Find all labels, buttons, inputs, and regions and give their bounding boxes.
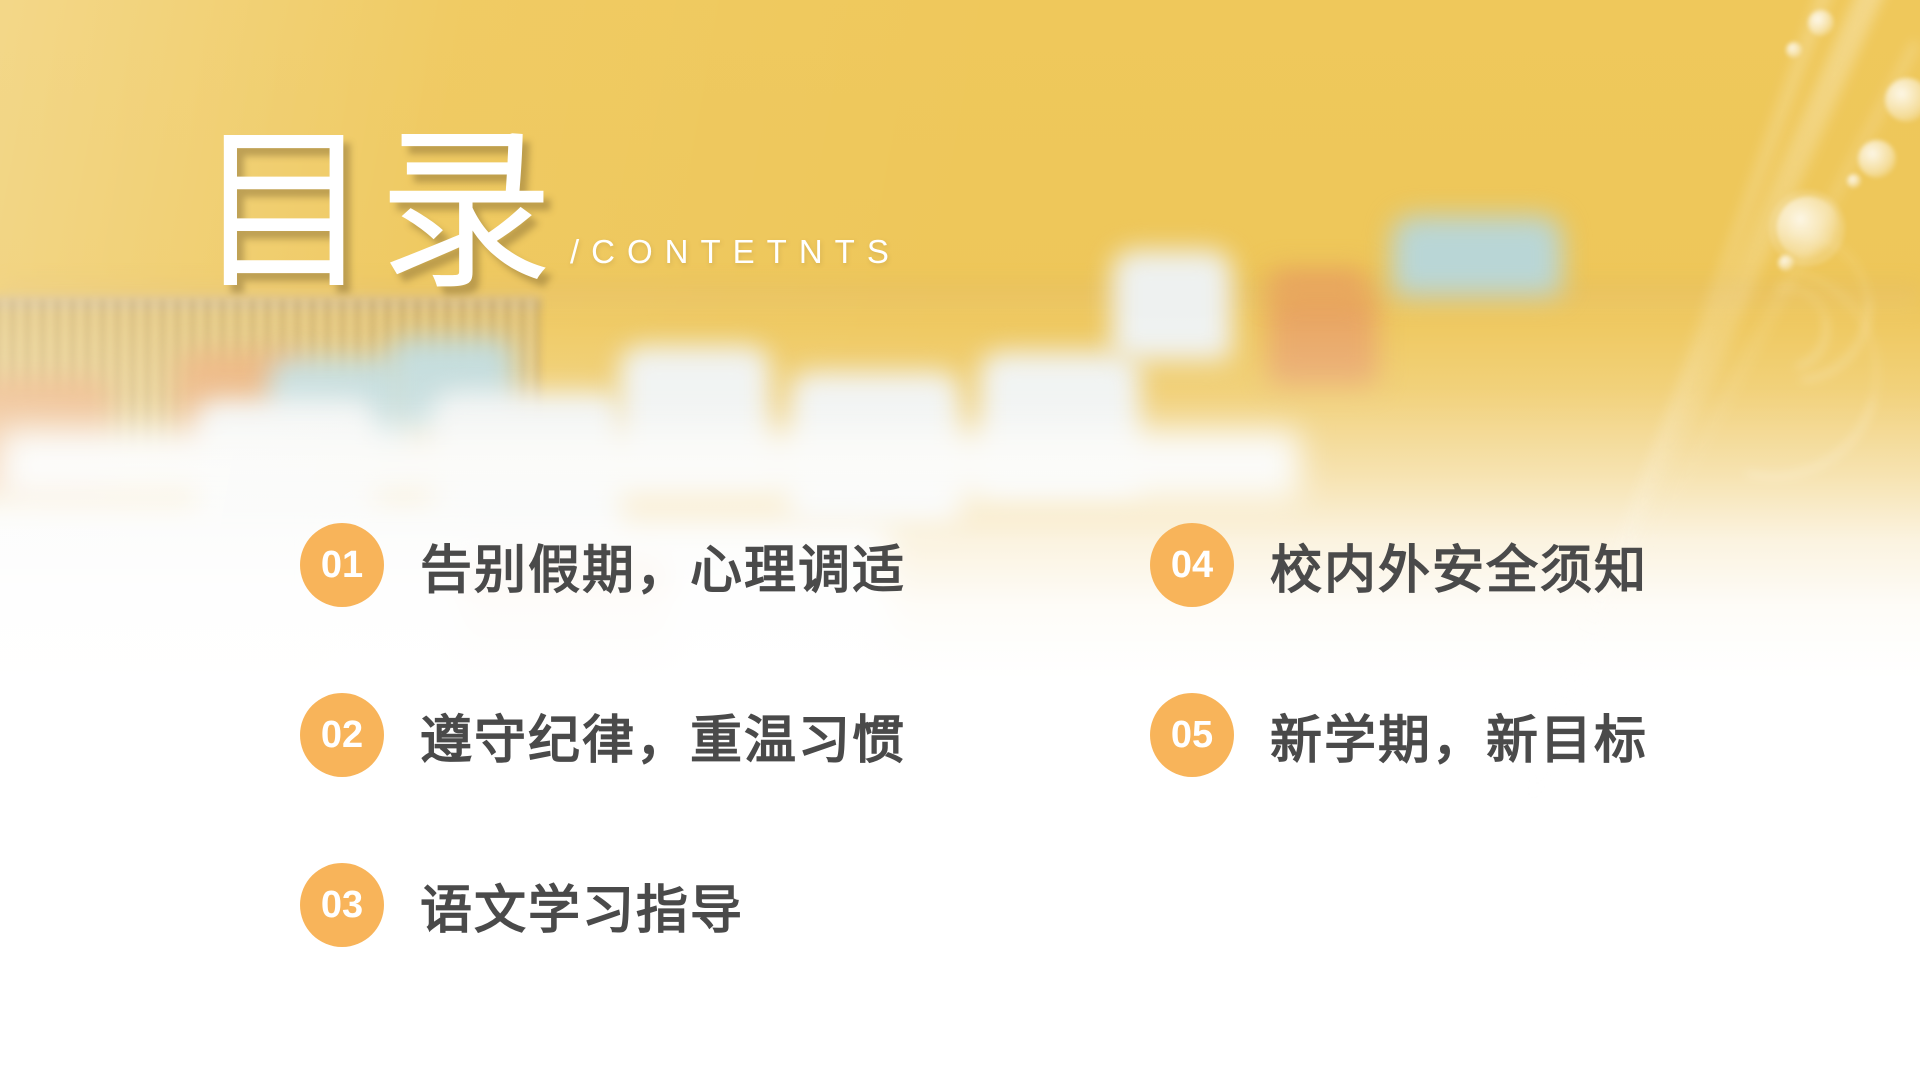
lens-flare-bokeh — [1808, 10, 1834, 36]
toc-item-02[interactable]: 02 遵守纪律，重温习惯 — [300, 650, 1000, 820]
lens-flare-bokeh — [1858, 140, 1896, 178]
toc-item-01[interactable]: 01 告别假期，心理调适 — [300, 480, 1000, 650]
page-subtitle: /CONTETNTS — [570, 233, 901, 297]
toc-item-label: 遵守纪律，重温习惯 — [420, 698, 906, 773]
toc-item-label: 告别假期，心理调适 — [420, 528, 906, 603]
toc-number-badge: 03 — [300, 863, 384, 947]
lens-flare-bokeh — [1786, 42, 1802, 58]
toc-item-label: 新学期，新目标 — [1270, 698, 1648, 773]
toc-item-05[interactable]: 05 新学期，新目标 — [1150, 650, 1850, 820]
table-of-contents: 01 告别假期，心理调适 04 校内外安全须知 02 遵守纪律，重温习惯 05 … — [300, 480, 1860, 990]
toc-item-label: 语文学习指导 — [420, 868, 744, 943]
toc-number-badge: 02 — [300, 693, 384, 777]
lens-flare-bokeh — [1847, 174, 1861, 188]
slide-title-group: 目录 /CONTETNTS — [196, 128, 901, 297]
toc-item-04[interactable]: 04 校内外安全须知 — [1150, 480, 1850, 650]
presentation-slide: 目录 /CONTETNTS 01 告别假期，心理调适 04 校内外安全须知 02… — [0, 0, 1920, 1080]
page-title: 目录 — [196, 128, 560, 297]
toc-number-badge: 04 — [1150, 523, 1234, 607]
toc-number-badge: 05 — [1150, 693, 1234, 777]
toc-item-03[interactable]: 03 语文学习指导 — [300, 820, 1000, 990]
toc-number-badge: 01 — [300, 523, 384, 607]
toc-item-label: 校内外安全须知 — [1270, 528, 1648, 603]
